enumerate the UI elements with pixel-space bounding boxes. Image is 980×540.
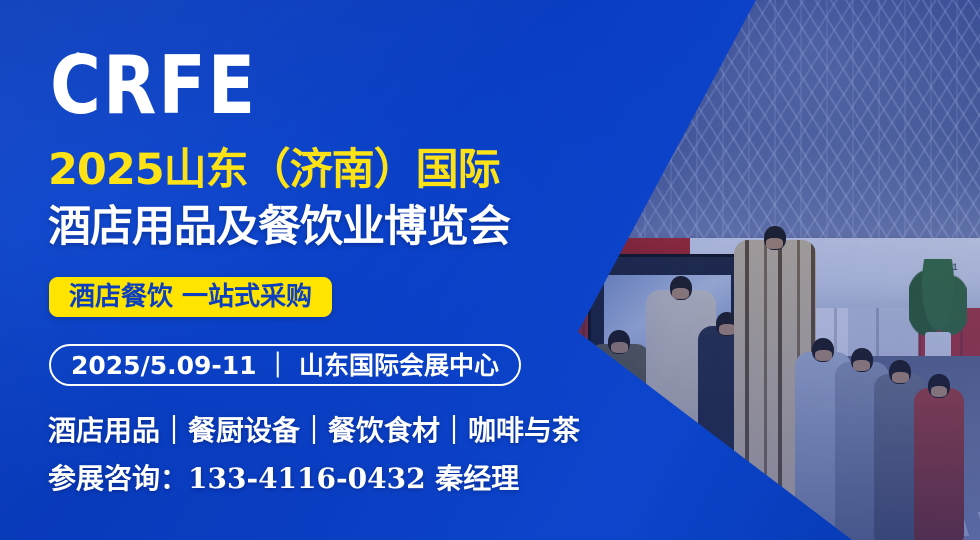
date-venue-label: 2025/5.09-11 ｜ 山东国际会展中心	[71, 353, 499, 378]
brand-logo: CRFE	[50, 47, 257, 127]
tagline-badge: 酒店餐饮 一站式采购	[49, 277, 332, 317]
exhibition-promo-banner: NH-41	[0, 0, 980, 540]
title-line-1: 2025山东（济南）国际	[48, 148, 500, 193]
contact-line: 参展咨询：133-4116-0432 秦经理	[48, 457, 519, 497]
date-venue-pill: 2025/5.09-11 ｜ 山东国际会展中心	[49, 344, 521, 386]
title-line-2: 酒店用品及餐饮业博览会	[48, 205, 510, 250]
category-list: 酒店用品｜餐厨设备｜餐饮食材｜咖啡与茶	[48, 409, 580, 449]
banner-content: CRFE 2025山东（济南）国际 酒店用品及餐饮业博览会 酒店餐饮 一站式采购…	[48, 0, 668, 540]
tagline-badge-label: 酒店餐饮 一站式采购	[69, 284, 312, 310]
